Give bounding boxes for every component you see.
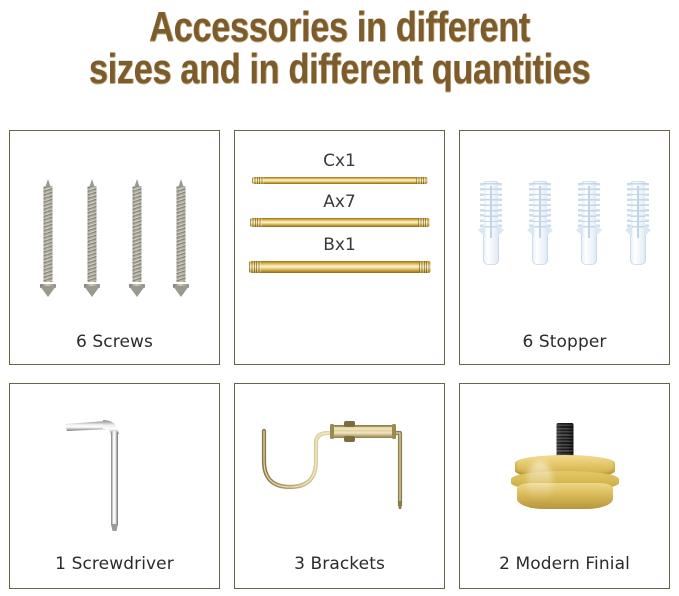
screw-icon <box>173 179 189 297</box>
panel-rods: Cx1 Ax7 Bx1 <box>234 130 445 365</box>
panel-caption-brackets: 3 Brackets <box>235 554 444 588</box>
allen-key-icon <box>55 404 175 534</box>
finial-threaded-post <box>556 423 573 457</box>
curtain-bracket-icon <box>250 409 430 529</box>
screws-row <box>10 179 219 297</box>
rod-group-a: Ax7 <box>243 192 436 227</box>
wall-anchor-icon <box>625 181 651 265</box>
finial-artwork <box>460 384 669 554</box>
rod-group-b: Bx1 <box>243 235 436 273</box>
panel-caption-screws: 6 Screws <box>10 332 219 364</box>
rod-label-c: Cx1 <box>243 151 436 171</box>
screwdriver-artwork <box>10 384 219 554</box>
brackets-artwork <box>235 384 444 554</box>
rod-icon <box>250 218 430 227</box>
screw-icon <box>129 179 145 297</box>
rod-icon <box>252 177 428 184</box>
accessory-panel-grid: 6 Screws Cx1 Ax7 <box>9 130 670 589</box>
panel-caption-stoppers: 6 Stopper <box>460 332 669 364</box>
panel-finial: 2 Modern Finial <box>459 383 670 589</box>
page-title: Accessories in different sizes and in di… <box>0 0 679 91</box>
rod-icon <box>249 261 431 273</box>
stoppers-row <box>460 181 669 265</box>
page-title-line-1: Accessories in different <box>61 6 618 49</box>
stoppers-artwork <box>460 131 669 332</box>
rods-artwork: Cx1 Ax7 Bx1 <box>235 131 444 364</box>
panel-brackets: 3 Brackets <box>234 383 445 589</box>
panel-caption-screwdriver: 1 Screwdriver <box>10 554 219 588</box>
wall-anchor-icon <box>478 181 504 265</box>
page-title-line-2: sizes and in different quantities <box>61 48 618 91</box>
panel-screwdriver: 1 Screwdriver <box>9 383 220 589</box>
rod-label-a: Ax7 <box>243 192 436 212</box>
screws-artwork <box>10 131 219 332</box>
wall-anchor-icon <box>576 181 602 265</box>
rod-label-b: Bx1 <box>243 235 436 255</box>
panel-stoppers: 6 Stopper <box>459 130 670 365</box>
screw-icon <box>40 179 56 297</box>
rod-group-c: Cx1 <box>243 151 436 184</box>
wall-anchor-icon <box>527 181 553 265</box>
panel-caption-finial: 2 Modern Finial <box>460 554 669 588</box>
panel-screws: 6 Screws <box>9 130 220 365</box>
screw-icon <box>84 179 100 297</box>
finial-icon <box>509 423 621 515</box>
